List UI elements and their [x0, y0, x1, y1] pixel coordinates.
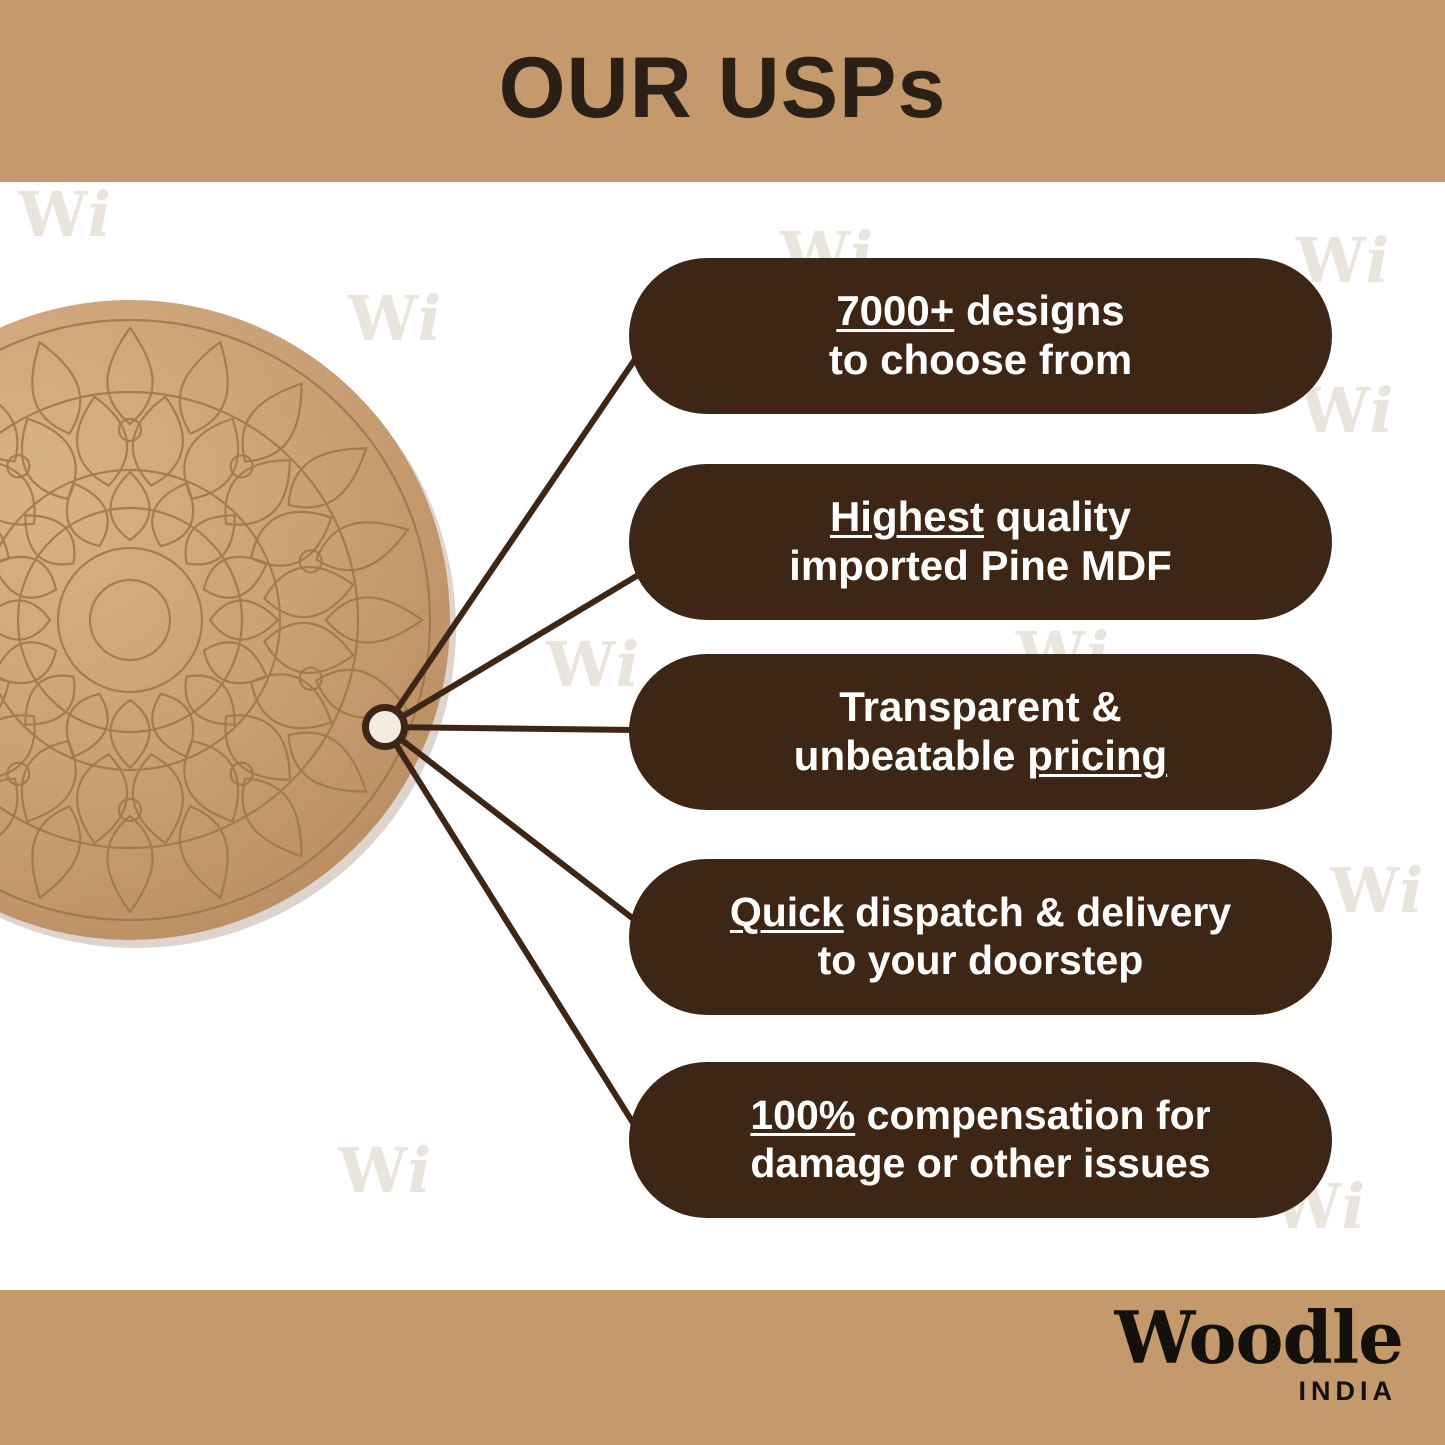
usp-5-line2: damage or other issues [750, 1140, 1210, 1186]
watermark-tile: Wi [1330, 860, 1423, 922]
usp-1-line1-rest: designs [954, 287, 1124, 334]
usp-item-4[interactable]: Quick dispatch & delivery to your doorst… [629, 859, 1332, 1015]
brand-subtitle: INDIA [1114, 1378, 1397, 1405]
product-image [0, 300, 450, 940]
usp-4-line2: to your doorstep [818, 937, 1144, 983]
usp-2-highlight: Highest [830, 493, 984, 540]
usp-2-line1-rest: quality [984, 493, 1131, 540]
infographic-page: OUR USPs Wi Wi Wi Wi Wi Wi Wi Wi Wi Wi [0, 0, 1445, 1445]
usp-item-5[interactable]: 100% compensation for damage or other is… [629, 1062, 1332, 1218]
hub-node [362, 704, 408, 750]
usp-4-highlight: Quick [730, 889, 844, 935]
page-title: OUR USPs [499, 45, 947, 131]
watermark-tile: Wi [1300, 380, 1393, 442]
usp-item-3[interactable]: Transparent & unbeatable pricing [629, 654, 1332, 810]
usp-1-highlight: 7000+ [836, 287, 954, 334]
usp-1-line2: to choose from [829, 336, 1132, 383]
usp-3-highlight: pricing [1027, 732, 1167, 779]
watermark-tile: Wi [338, 1140, 431, 1202]
usp-2-line2: imported Pine MDF [789, 542, 1172, 589]
usp-4-line1-rest: dispatch & delivery [844, 889, 1231, 935]
mandala-engraving [0, 300, 450, 940]
usp-3-line1: Transparent & [839, 683, 1121, 730]
header-banner: OUR USPs [0, 0, 1445, 182]
usp-5-highlight: 100% [750, 1092, 855, 1138]
usp-3-line2-rest: unbeatable [794, 732, 1027, 779]
watermark-tile: Wi [546, 634, 639, 696]
diagram-stage: Wi Wi Wi Wi Wi Wi Wi Wi Wi Wi [0, 182, 1445, 1290]
usp-item-1[interactable]: 7000+ designs to choose from [629, 258, 1332, 414]
brand-name: Woodle [1114, 1302, 1403, 1374]
usp-5-line1-rest: compensation for [855, 1092, 1210, 1138]
usp-item-2[interactable]: Highest quality imported Pine MDF [629, 464, 1332, 620]
watermark-tile: Wi [18, 184, 111, 246]
brand-logo[interactable]: Woodle INDIA [1114, 1302, 1403, 1405]
